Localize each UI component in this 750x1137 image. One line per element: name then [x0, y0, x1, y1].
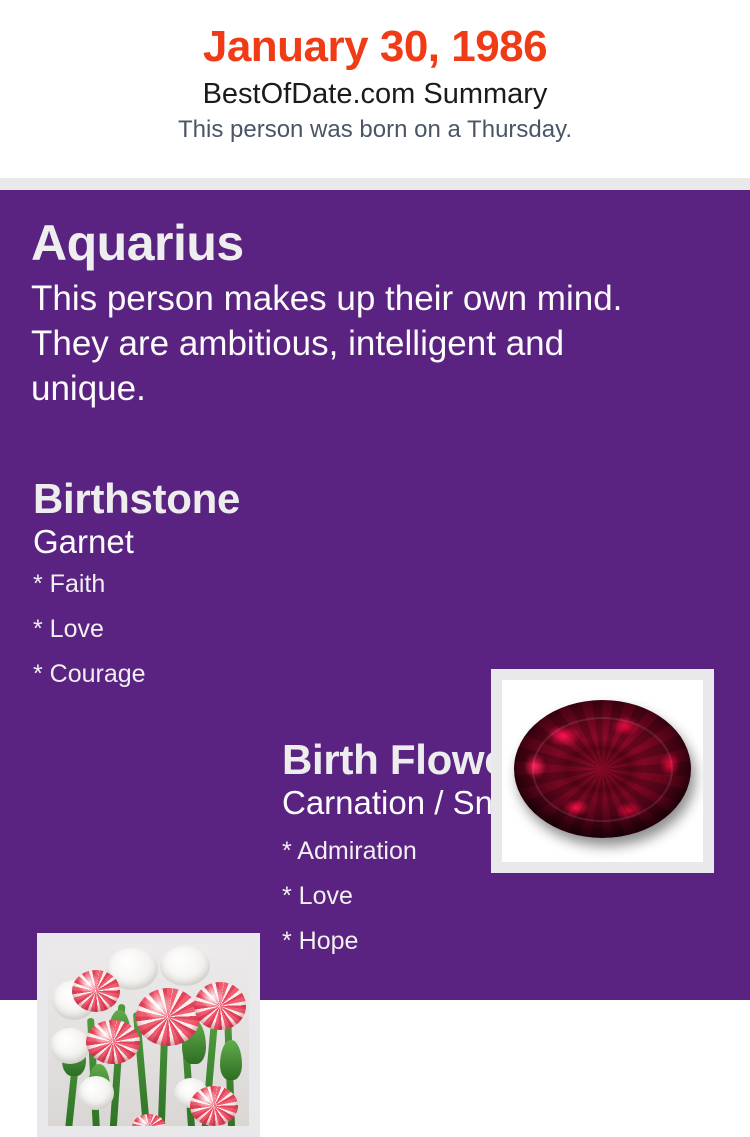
flower-scene — [48, 944, 249, 1126]
header-section: January 30, 1986 BestOfDate.com Summary … — [0, 0, 750, 178]
garnet-gemstone-image — [502, 680, 703, 862]
list-item: * Courage — [33, 662, 463, 707]
list-item: * Love — [282, 884, 732, 929]
red-carnation-bloom — [86, 1020, 140, 1064]
list-item: * Love — [33, 617, 463, 662]
zodiac-block: Aquarius This person makes up their own … — [31, 218, 681, 411]
white-carnation-bloom — [78, 1076, 114, 1110]
list-item: * Hope — [282, 929, 732, 974]
white-carnation-bloom — [160, 946, 210, 986]
site-summary-label: BestOfDate.com Summary — [0, 71, 750, 111]
infographic-page: January 30, 1986 BestOfDate.com Summary … — [0, 0, 750, 1000]
flower-bud — [220, 1040, 242, 1080]
birthstone-image-frame — [491, 669, 714, 873]
birth-flower-image-frame — [37, 933, 260, 1137]
birthstone-name: Garnet — [33, 520, 463, 560]
birthstone-trait-list: * Faith * Love * Courage — [33, 560, 463, 707]
page-title-date: January 30, 1986 — [0, 0, 750, 71]
zodiac-description: This person makes up their own mind. The… — [31, 268, 676, 411]
red-carnation-bloom — [72, 970, 120, 1012]
white-carnation-bloom — [50, 1028, 90, 1064]
list-item: * Faith — [33, 572, 463, 617]
header-divider — [0, 178, 750, 190]
red-carnation-bloom — [190, 1086, 238, 1126]
red-carnation-bloom — [136, 988, 200, 1046]
carnation-bouquet-image — [48, 944, 249, 1126]
purple-content-panel: Aquarius This person makes up their own … — [0, 190, 750, 1000]
garnet-gem-shape — [514, 700, 691, 838]
birthstone-block: Birthstone Garnet * Faith * Love * Coura… — [33, 478, 463, 707]
birthstone-heading: Birthstone — [33, 478, 463, 520]
gem-rim-highlight — [532, 717, 674, 822]
weekday-statement: This person was born on a Thursday. — [0, 110, 750, 143]
red-carnation-bloom — [194, 982, 246, 1030]
zodiac-sign-title: Aquarius — [31, 218, 681, 268]
